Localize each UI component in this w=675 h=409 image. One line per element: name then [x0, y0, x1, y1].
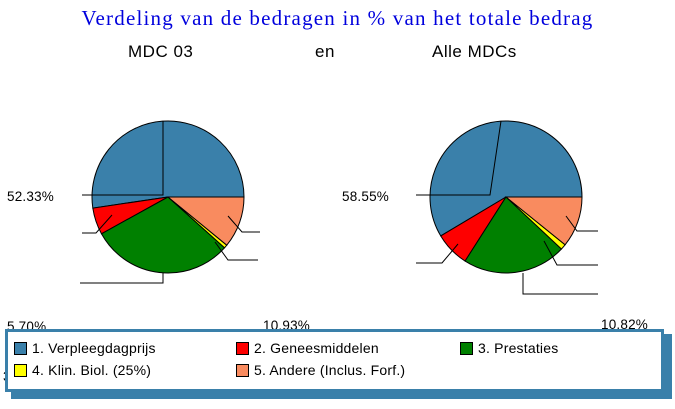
pie-chart-right: 58.55% 7.40% 22.06% 1.17% 10.82%: [338, 88, 675, 313]
pie-chart-left: 52.33% 5.70% 30.31% 0.72% 10.93%: [0, 88, 337, 313]
pie-left-value-label-1: 52.33%: [7, 189, 54, 204]
legend-item-4: 4. Klin. Biol. (25%): [14, 362, 151, 378]
pie-chart-figure: Verdeling van de bedragen in % van het t…: [0, 0, 675, 409]
subtitle-left-chart: MDC 03: [128, 42, 193, 62]
legend-item-3: 3. Prestaties: [460, 340, 558, 356]
legend-item-5: 5. Andere (Inclus. Forf.): [236, 362, 405, 378]
legend-swatch-icon-5: [236, 364, 249, 377]
legend-item-1: 1. Verpleegdagprijs: [14, 340, 156, 356]
page-title: Verdeling van de bedragen in % van het t…: [0, 6, 675, 31]
leader-2206: [523, 273, 598, 294]
legend-swatch-icon-3: [460, 342, 473, 355]
legend-label-4: 4. Klin. Biol. (25%): [32, 362, 151, 378]
legend-label-1: 1. Verpleegdagprijs: [32, 340, 156, 356]
legend-item-2: 2. Geneesmiddelen: [236, 340, 379, 356]
leader-3031: [80, 273, 163, 283]
subtitle-conjunction: en: [315, 42, 335, 62]
pie-right-value-label-1: 58.55%: [342, 189, 389, 204]
legend-swatch-icon-4: [14, 364, 27, 377]
legend-box: [5, 329, 664, 392]
legend-swatch-icon-2: [236, 342, 249, 355]
legend-swatch-icon-1: [14, 342, 27, 355]
subtitle-right-chart: Alle MDCs: [432, 42, 517, 62]
legend-label-5: 5. Andere (Inclus. Forf.): [254, 362, 405, 378]
legend-label-3: 3. Prestaties: [478, 340, 558, 356]
legend-label-2: 2. Geneesmiddelen: [254, 340, 379, 356]
